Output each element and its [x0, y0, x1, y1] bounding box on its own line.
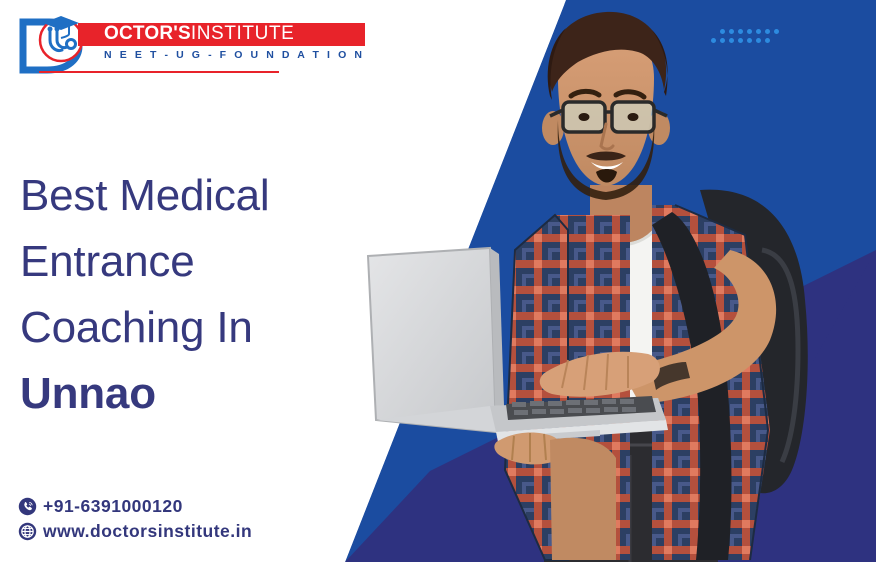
globe-icon — [18, 522, 37, 541]
logo-main-thin: INSTITUTE — [191, 26, 295, 42]
contact-phone-value: +91-6391000120 — [43, 496, 183, 517]
phone-icon — [18, 497, 37, 516]
logo-tagline: N E E T - U G - F O U N D A T I O N — [78, 49, 365, 61]
headline-line-4: Unnao — [20, 361, 380, 427]
brand-logo[interactable]: OCTOR'SINSTITUTE N E E T - U G - F O U N… — [17, 14, 279, 76]
dot-grid-decoration-icon — [711, 29, 783, 47]
logo-main-bar: OCTOR'SINSTITUTE — [78, 23, 365, 46]
contact-block: +91-6391000120 www.doctorsinstitute.in — [18, 496, 252, 546]
headline-line-2: Entrance — [20, 229, 380, 295]
contact-website-value: www.doctorsinstitute.in — [43, 521, 252, 542]
logo-underline — [39, 71, 279, 73]
logo-main-bold: OCTOR'S — [104, 26, 191, 42]
logo-wordmark: OCTOR'SINSTITUTE N E E T - U G - F O U N… — [78, 23, 365, 61]
page-title: Best Medical Entrance Coaching In Unnao — [20, 163, 380, 427]
headline-line-3: Coaching In — [20, 295, 380, 361]
contact-website-row[interactable]: www.doctorsinstitute.in — [18, 521, 252, 542]
promo-banner: OCTOR'SINSTITUTE N E E T - U G - F O U N… — [0, 0, 876, 562]
headline-line-1: Best Medical — [20, 163, 380, 229]
contact-phone-row[interactable]: +91-6391000120 — [18, 496, 252, 517]
